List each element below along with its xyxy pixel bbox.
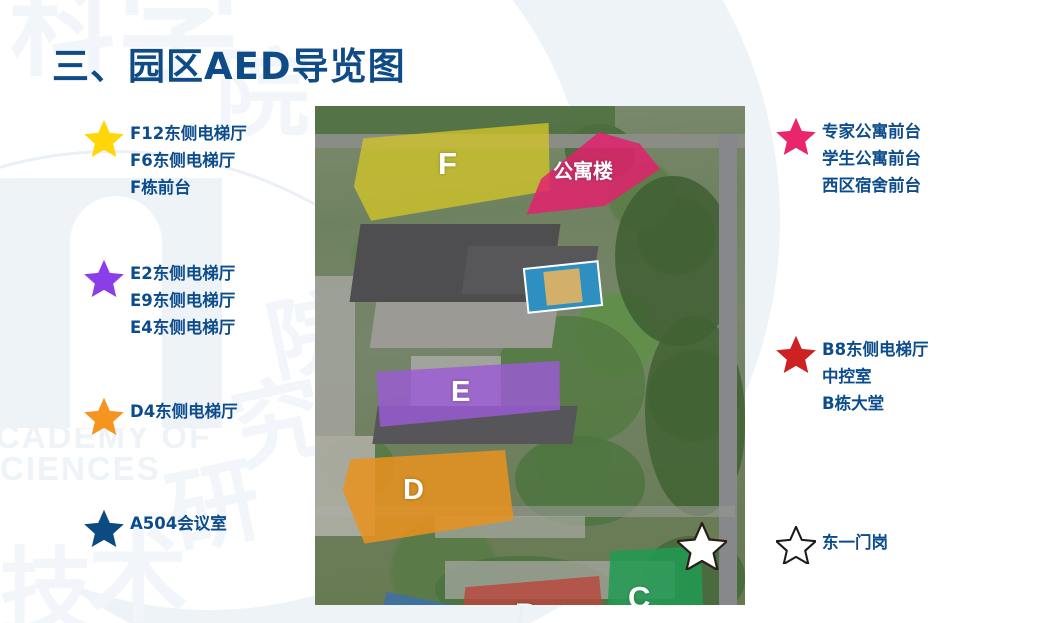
legend-item-f-block[interactable]: F12东侧电梯厅 F6东侧电梯厅 F栋前台 bbox=[78, 118, 308, 201]
star-icon-hollow bbox=[770, 525, 822, 564]
building-label-apartment: 公寓楼 bbox=[553, 162, 613, 182]
star-icon-purple bbox=[78, 258, 130, 297]
basketball-court bbox=[523, 260, 603, 314]
star-icon-pink bbox=[770, 116, 822, 155]
legend-left-1-line-1: E9东侧电梯厅 bbox=[130, 287, 235, 314]
building-label-e: E bbox=[451, 378, 470, 407]
legend-item-d-block[interactable]: D4东侧电梯厅 bbox=[78, 396, 308, 435]
legend-left-1-line-2: E4东侧电梯厅 bbox=[130, 314, 235, 341]
legend-item-apartment-front-desks[interactable]: 专家公寓前台 学生公寓前台 西区宿舍前台 bbox=[770, 116, 1050, 199]
page-title: 三、园区AED导览图 bbox=[52, 36, 406, 90]
legend-left-3-line-0: A504会议室 bbox=[130, 510, 227, 537]
gate-post-star-marker[interactable] bbox=[677, 522, 727, 575]
legend-right-2-line-0: 东一门岗 bbox=[822, 527, 888, 558]
watermark-glyph-ji: 技 bbox=[0, 546, 92, 623]
legend-left: F12东侧电梯厅 F6东侧电梯厅 F栋前台 E2东侧电梯厅 E9东侧电梯厅 E4… bbox=[78, 118, 308, 547]
legend-right-1-line-0: B8东侧电梯厅 bbox=[822, 336, 929, 363]
legend-left-2-line-0: D4东侧电梯厅 bbox=[130, 398, 238, 425]
legend-item-a-block[interactable]: A504会议室 bbox=[78, 508, 308, 547]
building-label-b: B bbox=[515, 600, 537, 605]
legend-item-b-block[interactable]: B8东侧电梯厅 中控室 B栋大堂 bbox=[770, 334, 1050, 417]
legend-left-0-line-1: F6东侧电梯厅 bbox=[130, 147, 247, 174]
slide-canvas: 科 学 院 技 术 研 究 院 CHINESE ACADEMY OF SCIEN… bbox=[0, 0, 1058, 623]
legend-item-e-block[interactable]: E2东侧电梯厅 E9东侧电梯厅 E4东侧电梯厅 bbox=[78, 258, 308, 341]
legend-left-0-line-0: F12东侧电梯厅 bbox=[130, 120, 247, 147]
legend-right: 专家公寓前台 学生公寓前台 西区宿舍前台 B8东侧电梯厅 中控室 B栋大堂 bbox=[770, 116, 1050, 564]
campus-aerial-map[interactable]: F E D A B C 公寓楼 bbox=[315, 106, 745, 605]
legend-right-0-line-0: 专家公寓前台 bbox=[822, 118, 921, 145]
legend-right-0-line-1: 学生公寓前台 bbox=[822, 145, 921, 172]
legend-left-0-line-2: F栋前台 bbox=[130, 174, 247, 201]
star-icon-orange bbox=[78, 396, 130, 435]
star-icon-navy bbox=[78, 508, 130, 547]
legend-right-0-line-2: 西区宿舍前台 bbox=[822, 172, 921, 199]
legend-item-east-gate[interactable]: 东一门岗 bbox=[770, 525, 1050, 564]
building-label-d: D bbox=[403, 476, 424, 505]
building-label-c: C bbox=[628, 582, 650, 605]
star-icon-red bbox=[770, 334, 822, 373]
building-label-f: F bbox=[438, 148, 457, 179]
legend-left-1-line-0: E2东侧电梯厅 bbox=[130, 260, 235, 287]
legend-right-1-line-2: B栋大堂 bbox=[822, 390, 929, 417]
star-icon-yellow bbox=[78, 118, 130, 157]
legend-right-1-line-1: 中控室 bbox=[822, 363, 929, 390]
